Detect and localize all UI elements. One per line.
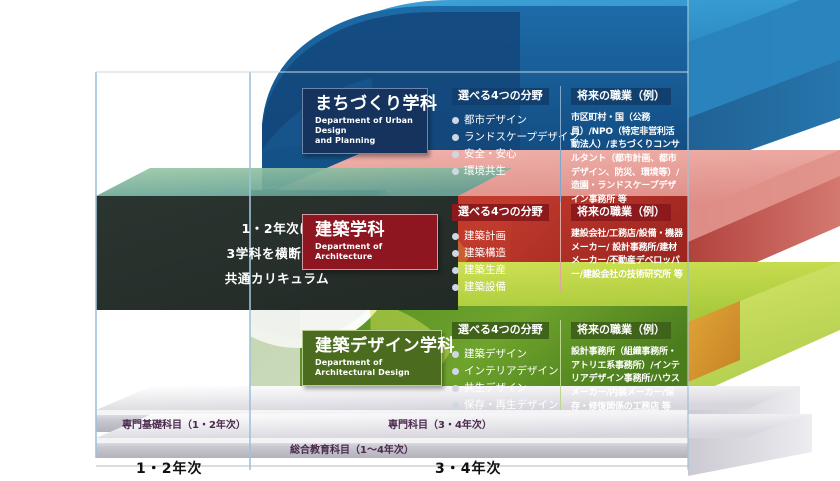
fields-column-architecture: 選べる4つの分野 建築計画 建築構造 建築生産 建築設備: [452, 200, 560, 296]
fields-header-archdesign: 選べる4つの分野: [452, 322, 549, 339]
bullet-dot-icon: [452, 250, 459, 257]
field-item[interactable]: 建築計画: [452, 228, 560, 245]
fields-list-archdesign: 建築デザイン インテリアデザイン 共生デザイン 保存・再生デザイン: [452, 346, 560, 414]
bullet-dot-icon: [452, 117, 459, 124]
career-column-urban: 将来の職業（例） 市区町村・国（公務員）/NPO（特定非営利活動法人）/まちづく…: [561, 84, 683, 208]
bullet-dot-icon: [452, 168, 459, 175]
department-details-architecture: 選べる4つの分野 建築計画 建築構造 建築生産 建築設備 将来の職業（例） 建設…: [452, 200, 683, 296]
career-text-archdesign: 設計事務所（組織事務所・アトリエ系事務所）/インテリアデザイン事務所/ハウスメー…: [571, 346, 683, 414]
field-item[interactable]: 建築生産: [452, 262, 560, 279]
department-details-urban: 選べる4つの分野 都市デザイン ランドスケープデザイン 安全・安心 環境共生 将…: [452, 84, 683, 208]
field-item[interactable]: 建築構造: [452, 245, 560, 262]
department-plate-architecture[interactable]: 建築学科 Department of Architecture: [302, 214, 438, 270]
bullet-dot-icon: [452, 284, 459, 291]
career-column-architecture: 将来の職業（例） 建設会社/工務店/設備・機器メーカー/ 設計事務所/建材メーカ…: [561, 200, 683, 296]
bar-label-basic: 専門基礎科目（1・2年次）: [122, 416, 246, 431]
department-details-archdesign: 選べる4つの分野 建築デザイン インテリアデザイン 共生デザイン 保存・再生デザ…: [452, 318, 683, 414]
bar-label-general: 総合教育科目（1〜4年次）: [290, 441, 414, 456]
career-text-urban: 市区町村・国（公務員）/NPO（特定非営利活動法人）/まちづくりコンサルタント（…: [571, 112, 683, 208]
department-name-jp-architecture: 建築学科: [315, 221, 427, 240]
year-axis-label-3-4: 3・4年次: [435, 458, 501, 478]
field-item[interactable]: インテリアデザイン: [452, 363, 560, 380]
field-label: 保存・再生デザイン: [464, 399, 559, 411]
curriculum-diagram: 1・2年次は 3学科を横断する 共通カリキュラム まちづくり学科 Departm…: [0, 0, 840, 481]
department-plate-architectural-design[interactable]: 建築デザイン学科 Department of Architectural Des…: [302, 330, 442, 386]
field-item[interactable]: 建築設備: [452, 279, 560, 296]
department-name-en-architecture-line1: Department of Architecture: [315, 242, 427, 262]
field-item[interactable]: 安全・安心: [452, 146, 560, 163]
bullet-dot-icon: [452, 368, 459, 375]
field-item[interactable]: 建築デザイン: [452, 346, 560, 363]
bullet-dot-icon: [452, 151, 459, 158]
bullet-dot-icon: [452, 385, 459, 392]
field-item[interactable]: 環境共生: [452, 163, 560, 180]
bullet-dot-icon: [452, 402, 459, 409]
career-header-archdesign: 将来の職業（例）: [571, 322, 671, 339]
field-item[interactable]: 共生デザイン: [452, 380, 560, 397]
bar-label-specialized: 専門科目（3・4年次）: [388, 416, 492, 431]
department-name-jp-urban: まちづくり学科: [315, 95, 417, 114]
department-name-en-urban-line2: and Planning: [315, 136, 417, 146]
field-item[interactable]: 都市デザイン: [452, 112, 560, 129]
field-label: 建築計画: [464, 230, 506, 242]
field-label: インテリアデザイン: [464, 365, 559, 377]
year-axis-label-1-2: 1・2年次: [136, 458, 202, 478]
career-header-architecture: 将来の職業（例）: [571, 204, 671, 221]
field-item[interactable]: ランドスケープデザイン: [452, 129, 560, 146]
field-label: 建築デザイン: [464, 348, 527, 360]
fields-list-architecture: 建築計画 建築構造 建築生産 建築設備: [452, 228, 560, 296]
career-text-architecture: 建設会社/工務店/設備・機器メーカー/ 設計事務所/建材メーカー/不動産デベロッ…: [571, 228, 683, 283]
field-label: 安全・安心: [464, 148, 517, 160]
career-column-archdesign: 将来の職業（例） 設計事務所（組織事務所・アトリエ系事務所）/インテリアデザイン…: [561, 318, 683, 414]
field-label: 建築設備: [464, 281, 506, 293]
career-header-urban: 将来の職業（例）: [571, 88, 671, 105]
field-label: 共生デザイン: [464, 382, 527, 394]
department-name-en-archdesign-line2: Architectural Design: [315, 368, 431, 378]
fields-list-urban: 都市デザイン ランドスケープデザイン 安全・安心 環境共生: [452, 112, 560, 180]
field-label: 環境共生: [464, 165, 506, 177]
bullet-dot-icon: [452, 267, 459, 274]
fields-header-architecture: 選べる4つの分野: [452, 204, 549, 221]
department-name-jp-archdesign: 建築デザイン学科: [315, 337, 431, 356]
bullet-dot-icon: [452, 134, 459, 141]
fields-column-archdesign: 選べる4つの分野 建築デザイン インテリアデザイン 共生デザイン 保存・再生デザ…: [452, 318, 560, 414]
bullet-dot-icon: [452, 351, 459, 358]
department-plate-urban[interactable]: まちづくり学科 Department of Urban Design and P…: [302, 88, 428, 154]
field-label: 建築構造: [464, 247, 506, 259]
field-item[interactable]: 保存・再生デザイン: [452, 397, 560, 414]
fields-column-urban: 選べる4つの分野 都市デザイン ランドスケープデザイン 安全・安心 環境共生: [452, 84, 560, 208]
field-label: 建築生産: [464, 264, 506, 276]
bullet-dot-icon: [452, 233, 459, 240]
fields-header-urban: 選べる4つの分野: [452, 88, 549, 105]
department-name-en-urban-line1: Department of Urban Design: [315, 116, 417, 136]
department-name-en-archdesign-line1: Department of: [315, 358, 431, 368]
field-label: 都市デザイン: [464, 114, 527, 126]
